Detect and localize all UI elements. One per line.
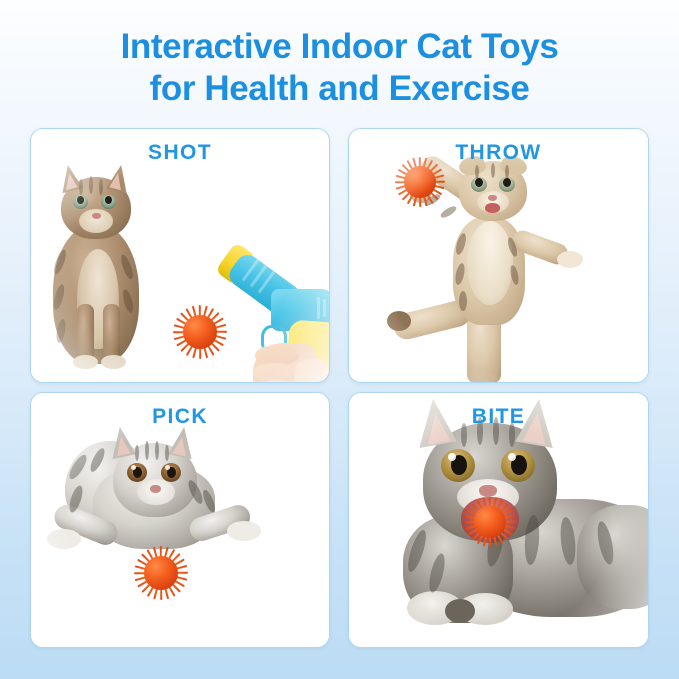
panel-throw[interactable]: THROW	[348, 128, 649, 383]
title-line-2: for Health and Exercise	[0, 68, 679, 110]
panel-bite[interactable]: BITE	[348, 392, 649, 648]
hand-thumb	[293, 357, 330, 383]
ball-core	[404, 166, 436, 198]
orange-spiky-ball	[134, 546, 188, 600]
panel-shot[interactable]: SHOT	[30, 128, 330, 383]
scene-pick	[31, 393, 329, 647]
panel-label-shot: SHOT	[31, 141, 329, 165]
panel-label-pick: PICK	[31, 405, 329, 429]
feature-panel-grid: SHOT	[30, 128, 649, 648]
orange-spiky-ball	[465, 497, 515, 547]
page-title: Interactive Indoor Cat Toys for Health a…	[0, 26, 679, 110]
scene-throw	[349, 129, 648, 382]
scene-bite	[349, 393, 648, 647]
blue-yellow-toy-gun	[209, 213, 330, 383]
panel-pick[interactable]: PICK	[30, 392, 330, 648]
panel-label-bite: BITE	[349, 405, 648, 429]
panel-label-throw: THROW	[349, 141, 648, 165]
scene-shot	[31, 129, 329, 382]
title-line-1: Interactive Indoor Cat Toys	[0, 26, 679, 68]
ball-core	[474, 506, 506, 538]
